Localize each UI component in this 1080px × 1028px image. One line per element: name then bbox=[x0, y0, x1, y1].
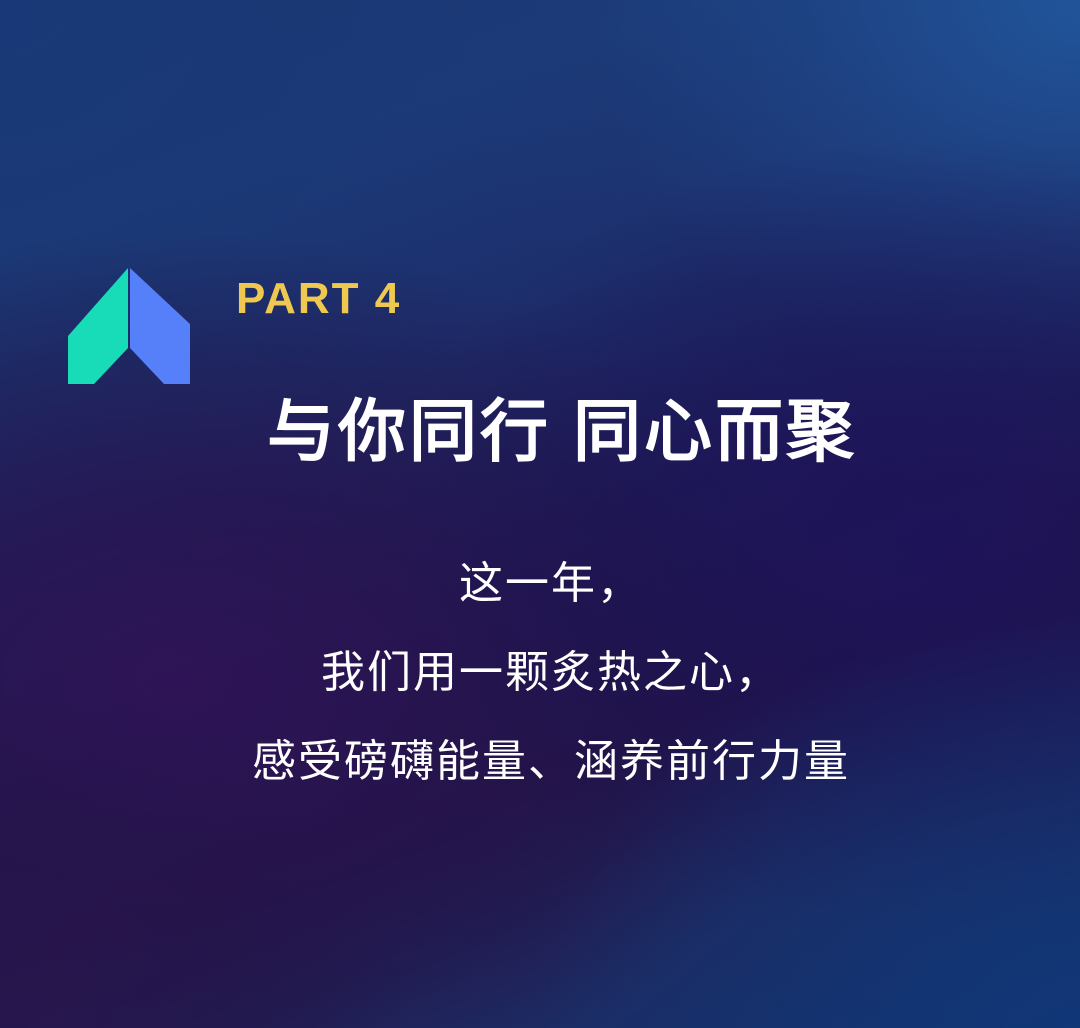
section-part-label: PART 4 bbox=[236, 276, 401, 323]
body-line-2: 我们用一颗炙热之心， bbox=[22, 651, 1080, 695]
body-line-3: 感受磅礴能量、涵养前行力量 bbox=[22, 740, 1080, 784]
chevron-right-wing bbox=[130, 268, 190, 384]
presentation-slide: PART 4 与你同行 同心而聚 这一年， 我们用一颗炙热之心， 感受磅礴能量、… bbox=[0, 0, 1080, 1028]
slide-body-copy: 这一年， 我们用一颗炙热之心， 感受磅礴能量、涵养前行力量 bbox=[0, 562, 1080, 784]
slide-content: PART 4 与你同行 同心而聚 这一年， 我们用一颗炙热之心， 感受磅礴能量、… bbox=[0, 0, 1080, 1028]
double-chevron-up-icon bbox=[66, 266, 192, 386]
slide-headline: 与你同行 同心而聚 bbox=[0, 392, 1080, 472]
chevron-logo-svg bbox=[66, 266, 192, 386]
body-line-1: 这一年， bbox=[22, 562, 1080, 606]
chevron-left-wing bbox=[68, 268, 128, 384]
